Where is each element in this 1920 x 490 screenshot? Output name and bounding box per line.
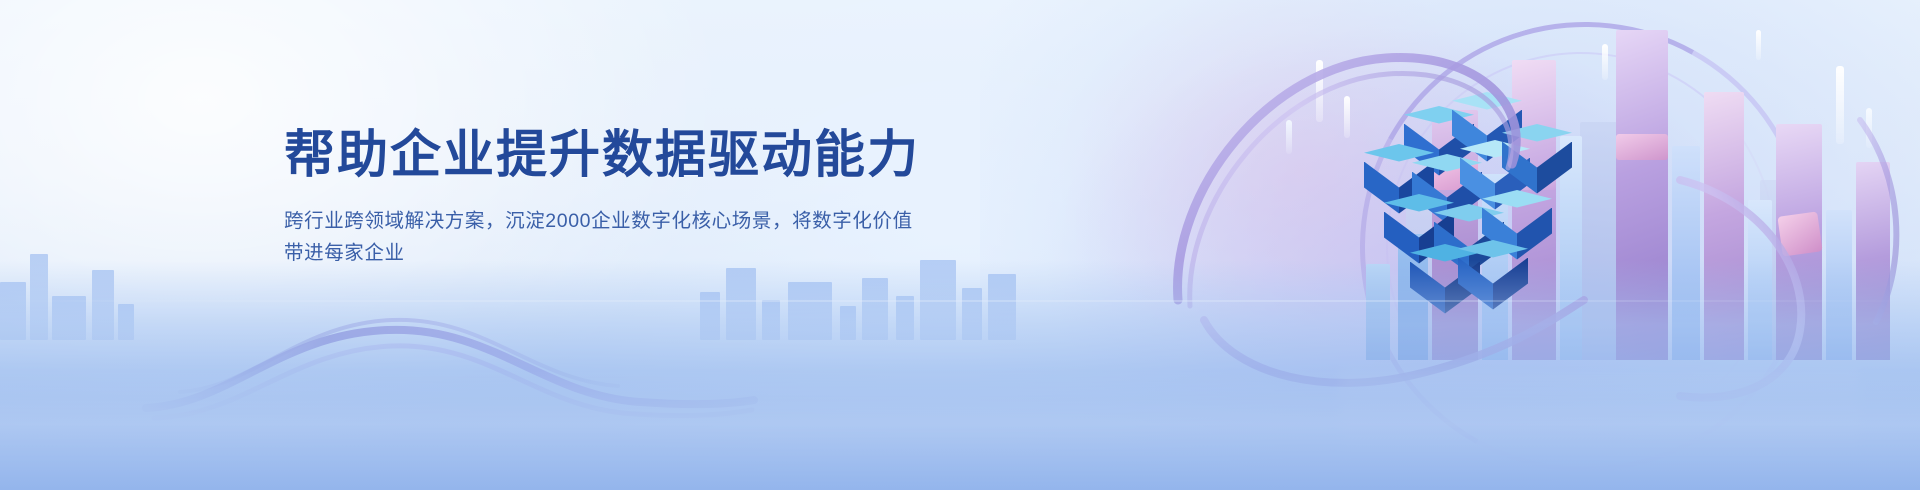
- hero-subtitle-line-1: 跨行业跨领域解决方案，沉淀2000企业数字化核心场景，将数字化价值: [284, 206, 944, 238]
- hero-subtitle-line-2: 带进每家企业: [284, 238, 944, 270]
- hero-banner: 帮助企业提升数据驱动能力 跨行业跨领域解决方案，沉淀2000企业数字化核心场景，…: [0, 0, 1920, 490]
- hero-copy: 帮助企业提升数据驱动能力 跨行业跨领域解决方案，沉淀2000企业数字化核心场景，…: [284, 126, 984, 269]
- hero-subtitle: 跨行业跨领域解决方案，沉淀2000企业数字化核心场景，将数字化价值 带进每家企业: [284, 206, 944, 269]
- page-title: 帮助企业提升数据驱动能力: [284, 126, 984, 183]
- ground-sheen: [0, 370, 1920, 490]
